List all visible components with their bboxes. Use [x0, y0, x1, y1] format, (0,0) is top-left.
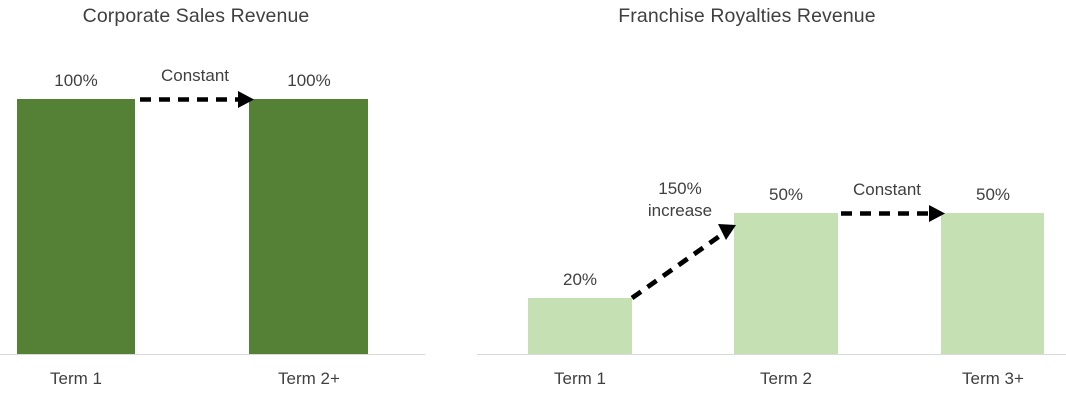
dashed-arrow-increase — [632, 224, 736, 298]
x-axis-label-term-2: Term 2 — [736, 368, 836, 390]
x-axis-label-term-2-plus: Term 2+ — [259, 368, 359, 390]
chart-corporate-sales-revenue: Corporate Sales Revenue 100% 100% Consta… — [0, 0, 440, 407]
dashed-arrow-constant-right — [841, 205, 945, 222]
annotation-arrows-right — [460, 0, 1066, 407]
dashed-arrow-constant-left — [0, 0, 440, 407]
chart-franchise-royalties-revenue: Franchise Royalties Revenue 20% 50% 50% … — [460, 0, 1066, 407]
x-axis-label-term-3-plus: Term 3+ — [943, 368, 1043, 390]
x-axis-label-term-1: Term 1 — [530, 368, 630, 390]
plot-area-corporate-sales: 100% 100% Constant Term 1 Term 2+ — [0, 0, 440, 407]
plot-area-franchise-royalties: 20% 50% 50% 150% increase Constant — [460, 0, 1066, 407]
x-axis-label-term-1: Term 1 — [26, 368, 126, 390]
